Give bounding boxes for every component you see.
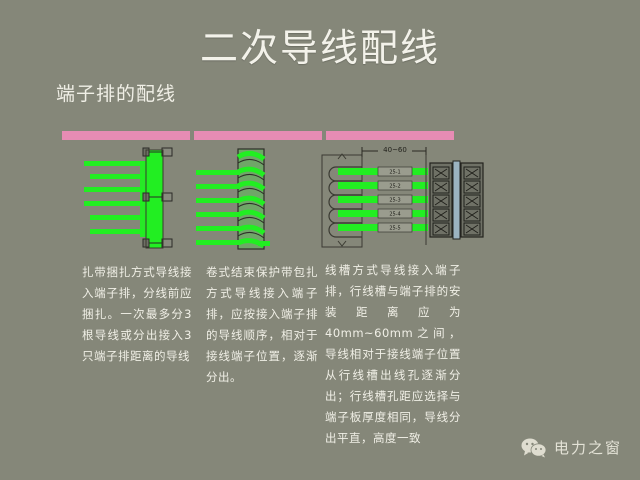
terminal-block-1 [430, 163, 452, 237]
panel-cable-tie [62, 145, 192, 255]
panel-spiral-wrap [194, 145, 324, 255]
terminal-block-2 [461, 163, 483, 237]
wire-label-2: 25-2 [389, 184, 400, 190]
wire-label-4: 25-4 [389, 212, 400, 218]
caption-wiring-duct: 线槽方式导线接入端子排，行线槽与端子排的安装距离应为40mm~60mm之间，导线… [325, 260, 461, 449]
page-subtitle: 端子排的配线 [56, 82, 176, 106]
watermark-text: 电力之窗 [554, 437, 622, 458]
watermark: 电力之窗 [521, 437, 622, 458]
cable-tie-bundling-diagram [62, 145, 192, 255]
caption-spiral-wrap: 卷式结束保护带包扎方式导线接入端子排，应按接入端子排的导线顺序，相对于接线端子位… [206, 262, 318, 388]
mounting-rail [453, 161, 460, 239]
divider-bar-1 [62, 131, 190, 140]
dimension-40-60: 40~60 [362, 145, 426, 157]
wire-label-1: 25-1 [389, 170, 400, 176]
divider-bar-2 [194, 131, 322, 140]
wechat-icon [521, 438, 547, 458]
panel-wiring-duct: 40~60 25-1 25-2 25-3 25-4 2 [320, 145, 500, 255]
slide-canvas: 二次导线配线 端子排的配线 [0, 0, 640, 480]
wiring-duct-terminal-block-diagram: 40~60 25-1 25-2 25-3 25-4 2 [320, 145, 500, 255]
wire-label-5: 25-5 [389, 226, 400, 232]
page-title: 二次导线配线 [0, 26, 640, 70]
wire-label-3: 25-3 [389, 198, 400, 204]
divider-bar-3 [326, 131, 454, 140]
dimension-label: 40~60 [383, 146, 407, 154]
break-symbol-bottom [338, 241, 346, 246]
caption-cable-tie: 扎带捆扎方式导线接入端子排，分线前应捆扎。一次最多分3根导线或分出接入3只端子排… [82, 262, 192, 367]
spiral-wrap-bundling-diagram [194, 145, 324, 255]
wire-labels: 25-1 25-2 25-3 25-4 25-5 [378, 167, 412, 232]
